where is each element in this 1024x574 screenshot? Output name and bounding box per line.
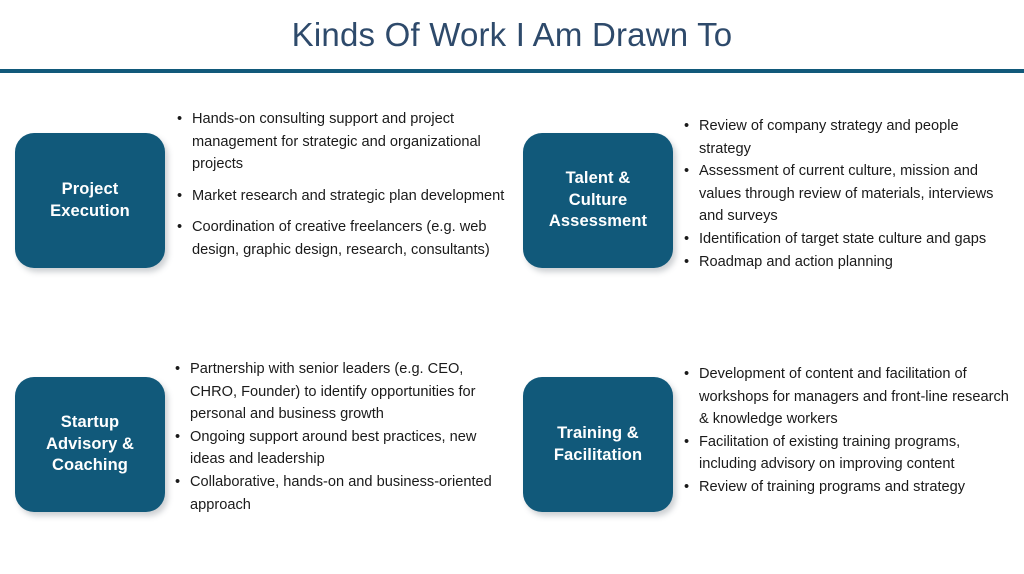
list-item: Development of content and facilitation … [684,363,1014,431]
list-item: Review of training programs and strategy [684,476,1014,499]
panel-startup-advisory-coaching: Startup Advisory & Coaching Partnership … [15,352,513,516]
list-item: Coordination of creative freelancers (e.… [177,216,507,261]
list-item: Collaborative, hands-on and business-ori… [175,471,505,516]
list-item: Identification of target state culture a… [684,228,1010,251]
category-box-startup-advisory-coaching[interactable]: Startup Advisory & Coaching [15,377,165,512]
list-item: Market research and strategic plan devel… [177,185,507,208]
slide-canvas: Kinds Of Work I Am Drawn To Project Exec… [0,0,1024,574]
category-label: Training & Facilitation [554,423,642,467]
bullet-list-project-execution: Hands-on consulting support and project … [177,108,507,262]
slide-title-bar: Kinds Of Work I Am Drawn To [0,0,1024,72]
list-item: Assessment of current culture, mission a… [684,160,1010,228]
panel-training-facilitation: Training & Facilitation Development of c… [523,352,1020,512]
panel-project-execution: Project Execution Hands-on consulting su… [15,108,513,268]
list-item: Roadmap and action planning [684,251,1010,274]
list-item: Review of company strategy and people st… [684,115,1010,160]
page-title: Kinds Of Work I Am Drawn To [292,18,733,55]
list-item: Hands-on consulting support and project … [177,108,507,176]
category-box-training-facilitation[interactable]: Training & Facilitation [523,377,673,512]
panel-grid: Project Execution Hands-on consulting su… [0,73,1024,574]
category-box-project-execution[interactable]: Project Execution [15,133,165,268]
list-item: Partnership with senior leaders (e.g. CE… [175,358,505,426]
bullet-list-training-facilitation: Development of content and facilitation … [684,352,1014,499]
category-box-talent-culture-assessment[interactable]: Talent & Culture Assessment [523,133,673,268]
category-label: Project Execution [50,179,130,223]
list-item: Ongoing support around best practices, n… [175,426,505,471]
list-item: Facilitation of existing training progra… [684,431,1014,476]
bullet-list-talent-culture-assessment: Review of company strategy and people st… [684,108,1010,273]
bullet-list-startup-advisory-coaching: Partnership with senior leaders (e.g. CE… [175,352,505,516]
category-label: Startup Advisory & Coaching [46,412,134,478]
category-label: Talent & Culture Assessment [549,168,647,234]
panel-talent-culture-assessment: Talent & Culture Assessment Review of co… [523,108,1020,273]
